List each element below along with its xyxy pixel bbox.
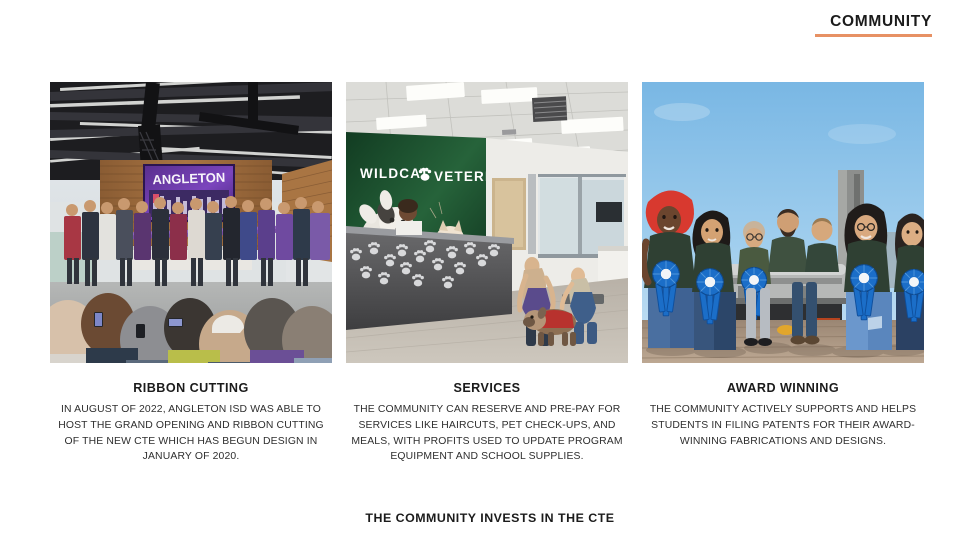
wildcat-veterinary-clinic-photo: WILDCAT VETERINARY xyxy=(346,82,628,363)
page-title: COMMUNITY xyxy=(815,13,932,30)
card-heading: RIBBON CUTTING xyxy=(50,381,332,395)
title-underline-rule xyxy=(815,34,932,37)
svg-text:ANGLETON: ANGLETON xyxy=(152,170,225,188)
svg-text:WILDCAT: WILDCAT xyxy=(360,166,430,181)
card-heading: AWARD WINNING xyxy=(642,381,924,395)
card-heading: SERVICES xyxy=(346,381,628,395)
card-body-text: THE COMMUNITY ACTIVELY SUPPORTS AND HELP… xyxy=(642,402,924,449)
ribbon-cutting-ceremony-photo: ANGLETON xyxy=(50,82,332,363)
footer-tagline: THE COMMUNITY INVESTS IN THE CTE xyxy=(0,511,980,525)
card-award-winning: AWARD WINNING THE COMMUNITY ACTIVELY SUP… xyxy=(642,82,924,465)
card-services: WILDCAT VETERINARY xyxy=(346,82,628,465)
slide-footer: THE COMMUNITY INVESTS IN THE CTE xyxy=(0,511,980,525)
card-body-text: THE COMMUNITY CAN RESERVE AND PRE-PAY FO… xyxy=(346,402,628,465)
award-winning-students-photo xyxy=(642,82,924,363)
card-grid: ANGLETON xyxy=(50,82,930,465)
slide-header: COMMUNITY xyxy=(815,13,932,37)
card-ribbon-cutting: ANGLETON xyxy=(50,82,332,465)
card-body-text: IN AUGUST OF 2022, ANGLETON ISD WAS ABLE… xyxy=(50,402,332,465)
